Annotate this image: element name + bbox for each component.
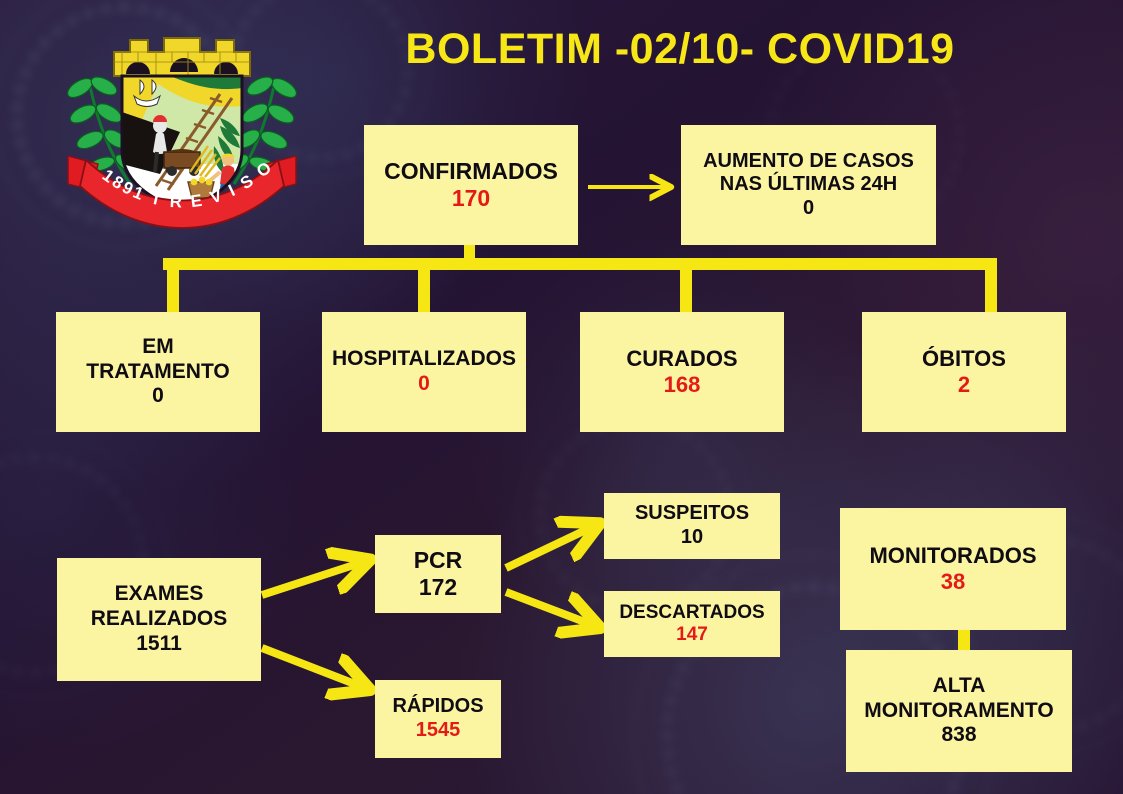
card-alta-value: 838 (941, 723, 976, 748)
connector-drop-obitos (985, 262, 997, 314)
card-suspeitos-label: SUSPEITOS (635, 502, 749, 526)
card-descartados[interactable]: DESCARTADOS 147 (604, 591, 780, 657)
card-monitorados-value: 38 (941, 569, 965, 595)
card-exames-realizados[interactable]: EXAMES REALIZADOS 1511 (57, 558, 261, 681)
card-pcr[interactable]: PCR 172 (375, 535, 501, 613)
card-suspeitos[interactable]: SUSPEITOS 10 (604, 493, 780, 559)
card-confirmados-value: 170 (452, 185, 490, 212)
card-confirmados-label: CONFIRMADOS (384, 158, 558, 185)
card-suspeitos-value: 10 (681, 526, 703, 550)
page-title: BOLETIM -02/10- COVID19 (330, 28, 1030, 71)
card-obitos-label: ÓBITOS (922, 346, 1006, 372)
infographic-canvas: 1891 T R E V I S O 1995 BOLETIM -02/10- … (0, 0, 1123, 794)
card-curados-value: 168 (664, 372, 701, 398)
card-rapidos-value: 1545 (416, 719, 461, 743)
card-descartados-value: 147 (676, 624, 708, 646)
card-alta-label-line2: MONITORAMENTO (864, 699, 1053, 724)
card-confirmados[interactable]: CONFIRMADOS 170 (364, 125, 578, 245)
card-em-tratamento-label-line1: EM (142, 335, 174, 360)
card-descartados-label: DESCARTADOS (619, 602, 764, 624)
card-em-tratamento-label-line2: TRATAMENTO (86, 360, 229, 385)
card-obitos-value: 2 (958, 372, 970, 398)
card-alta-monitoramento[interactable]: ALTA MONITORAMENTO 838 (846, 650, 1072, 772)
brasao-treviso-icon: 1891 T R E V I S O 1995 (52, 14, 312, 229)
card-exames-label-line2: REALIZADOS (91, 607, 228, 632)
card-exames-value: 1511 (136, 632, 182, 657)
card-em-tratamento-value: 0 (152, 384, 164, 409)
card-em-tratamento[interactable]: EM TRATAMENTO 0 (56, 312, 260, 432)
card-hospitalizados-value: 0 (418, 372, 430, 397)
connector-drop-hospitalizados (418, 262, 430, 314)
card-hospitalizados[interactable]: HOSPITALIZADOS 0 (322, 312, 526, 432)
card-monitorados[interactable]: MONITORADOS 38 (840, 508, 1066, 630)
card-alta-label-line1: ALTA (933, 674, 986, 699)
card-rapidos[interactable]: RÁPIDOS 1545 (375, 680, 501, 758)
card-aumento-casos-24h[interactable]: AUMENTO DE CASOS NAS ÚLTIMAS 24H 0 (681, 125, 936, 245)
card-curados[interactable]: CURADOS 168 (580, 312, 784, 432)
card-aumento-value: 0 (803, 197, 814, 221)
connector-drop-em-tratamento (167, 262, 179, 314)
mural-crown-icon (114, 38, 250, 76)
card-pcr-label: PCR (414, 547, 463, 574)
card-aumento-label-line1: AUMENTO DE CASOS (703, 150, 914, 174)
card-rapidos-label: RÁPIDOS (392, 695, 483, 719)
connector-horizontal-bus (163, 258, 997, 270)
card-aumento-label-line2: NAS ÚLTIMAS 24H (720, 173, 897, 197)
card-exames-label-line1: EXAMES (115, 582, 204, 607)
card-monitorados-label: MONITORADOS (869, 543, 1036, 569)
card-hospitalizados-label: HOSPITALIZADOS (332, 347, 516, 372)
connector-monitorados-alta (958, 629, 970, 651)
card-pcr-value: 172 (419, 574, 457, 601)
card-curados-label: CURADOS (626, 346, 737, 372)
card-obitos[interactable]: ÓBITOS 2 (862, 312, 1066, 432)
connector-drop-curados (680, 262, 692, 314)
